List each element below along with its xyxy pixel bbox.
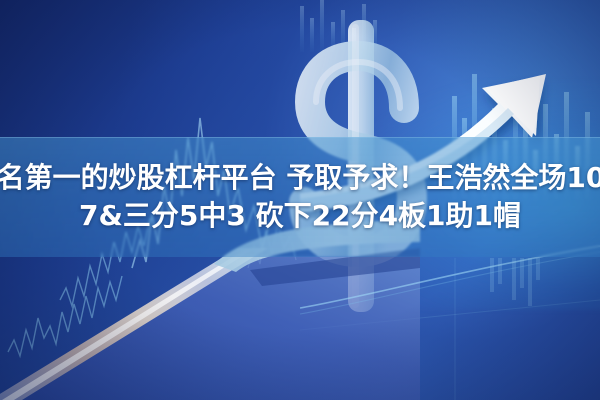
caption-line-2: 7&三分5中3 砍下22分4板1助1帽 [79, 200, 521, 232]
banner-image: 排名第一的炒股杠杆平台 予取予求！王浩然全场10中 7&三分5中3 砍下22分4… [0, 0, 600, 400]
caption-line-1: 排名第一的炒股杠杆平台 予取予求！王浩然全场10中 [0, 162, 600, 194]
caption-text-block: 排名第一的炒股杠杆平台 予取予求！王浩然全场10中 7&三分5中3 砍下22分4… [0, 137, 600, 257]
